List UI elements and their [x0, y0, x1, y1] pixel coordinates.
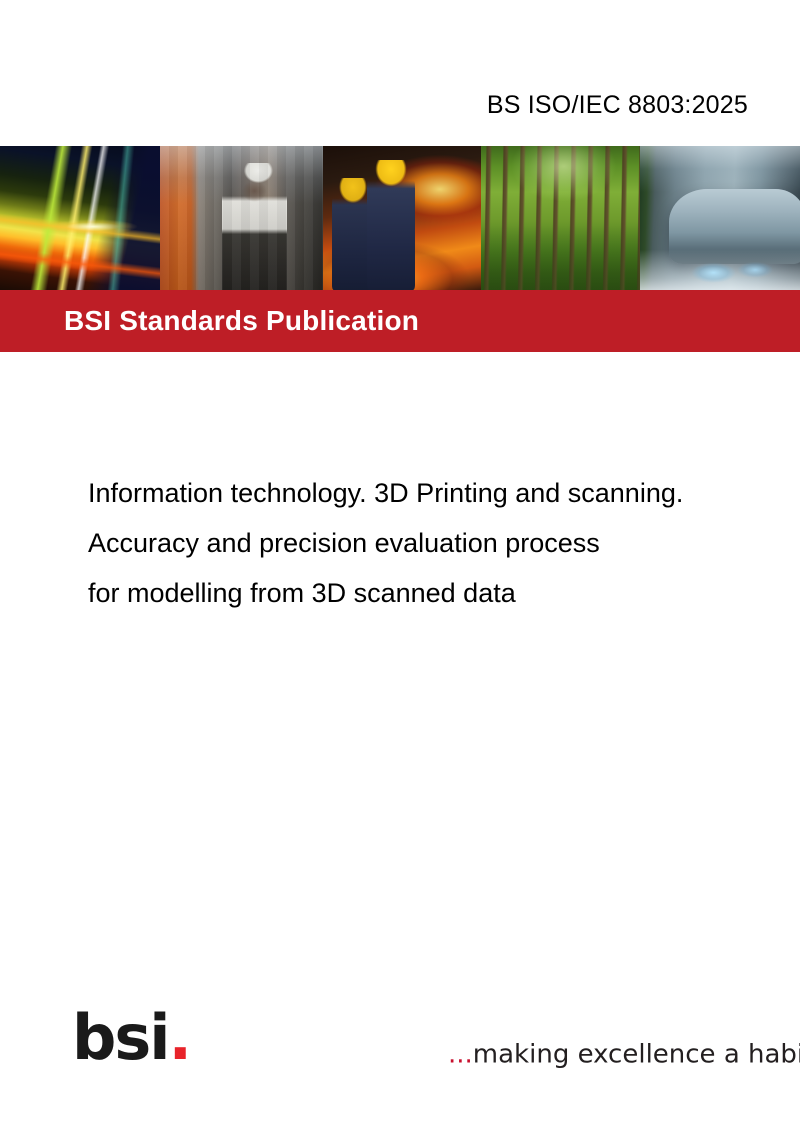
bsi-tagline: ...making excellence a habit.™ — [448, 1032, 800, 1072]
document-title: Information technology. 3D Printing and … — [88, 468, 800, 618]
photo-panel-night-traffic-light-trails — [0, 146, 160, 290]
photo-panel-car-assembly-line — [640, 146, 800, 290]
bsi-logo-letters: bsi — [72, 1001, 169, 1074]
photo-panel-firefighters — [323, 146, 481, 290]
bsi-logo: bsi. — [72, 1004, 202, 1072]
cover-photo-strip — [0, 146, 800, 290]
title-line-2: Accuracy and precision evaluation proces… — [88, 518, 800, 568]
tagline-ellipsis: ... — [448, 1040, 473, 1070]
tagline-text: making excellence a habit — [473, 1040, 800, 1070]
photo-panel-warehouse-worker — [160, 146, 323, 290]
banner-label: BSI Standards Publication — [64, 304, 419, 338]
title-line-3: for modelling from 3D scanned data — [88, 568, 800, 618]
standard-number: BS ISO/IEC 8803:2025 — [0, 90, 748, 120]
bsi-logo-wordmark: bsi. — [72, 1004, 202, 1072]
standards-publication-banner: BSI Standards Publication — [0, 290, 800, 352]
photo-panel-forest — [481, 146, 640, 290]
bsi-logo-red-dot: . — [169, 1001, 191, 1074]
title-line-1: Information technology. 3D Printing and … — [88, 468, 800, 518]
